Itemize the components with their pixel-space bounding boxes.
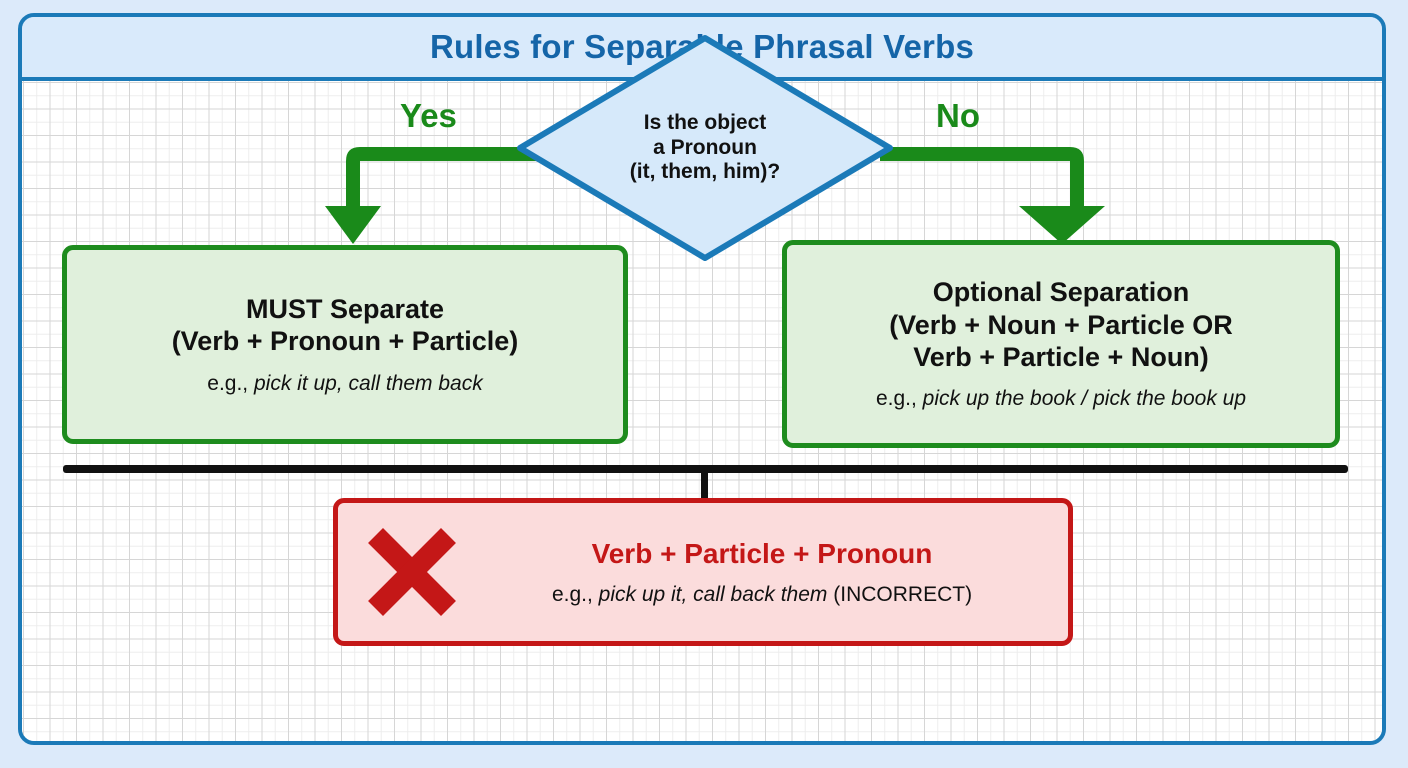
outcome-left-title: MUST Separate (Verb + Pronoun + Particle… xyxy=(172,293,519,358)
incorrect-example-text: pick up it, call back them xyxy=(599,583,828,606)
decision-line-2: a Pronoun xyxy=(653,136,757,161)
outcome-left-title-line-2: (Verb + Pronoun + Particle) xyxy=(172,325,519,357)
diagram-canvas: Rules for Separable Phrasal Verbs Yes No… xyxy=(0,0,1408,768)
no-branch-arrow xyxy=(880,126,1110,256)
outcome-right-example: e.g., pick up the book / pick the book u… xyxy=(876,386,1246,411)
outcome-left-example: e.g., pick it up, call them back xyxy=(207,371,482,396)
red-x-icon xyxy=(364,524,460,620)
incorrect-text-group: Verb + Particle + Pronoun e.g., pick up … xyxy=(466,537,1068,608)
outcome-right-example-prefix: e.g., xyxy=(876,387,923,410)
incorrect-example: e.g., pick up it, call back them (INCORR… xyxy=(552,582,972,607)
outcome-right-title-line-2: (Verb + Noun + Particle OR xyxy=(889,309,1233,341)
diagram-frame: Rules for Separable Phrasal Verbs Yes No… xyxy=(18,13,1386,745)
incorrect-pattern-box[interactable]: Verb + Particle + Pronoun e.g., pick up … xyxy=(333,498,1073,646)
outcome-right-title-line-3: Verb + Particle + Noun) xyxy=(889,341,1233,373)
outcome-right-title-line-1: Optional Separation xyxy=(889,276,1233,308)
decision-line-1: Is the object xyxy=(644,111,767,136)
outcome-right-example-text: pick up the book / pick the book up xyxy=(923,387,1246,410)
outcome-box-optional-separation[interactable]: Optional Separation (Verb + Noun + Parti… xyxy=(782,240,1340,448)
outcome-left-example-prefix: e.g., xyxy=(207,372,254,395)
outcome-box-must-separate[interactable]: MUST Separate (Verb + Pronoun + Particle… xyxy=(62,245,628,444)
incorrect-example-suffix: (INCORRECT) xyxy=(827,583,972,606)
outcome-left-title-line-1: MUST Separate xyxy=(172,293,519,325)
branch-label-no: No xyxy=(936,97,980,135)
decision-node[interactable]: Is the object a Pronoun (it, them, him)? xyxy=(516,34,894,262)
decision-text: Is the object a Pronoun (it, them, him)? xyxy=(516,34,894,262)
branch-label-yes: Yes xyxy=(400,97,457,135)
incorrect-example-prefix: e.g., xyxy=(552,583,599,606)
outcome-left-example-text: pick it up, call them back xyxy=(254,372,483,395)
decision-line-3: (it, them, him)? xyxy=(630,160,781,185)
outcome-right-title: Optional Separation (Verb + Noun + Parti… xyxy=(889,276,1233,373)
incorrect-title: Verb + Particle + Pronoun xyxy=(592,537,933,571)
